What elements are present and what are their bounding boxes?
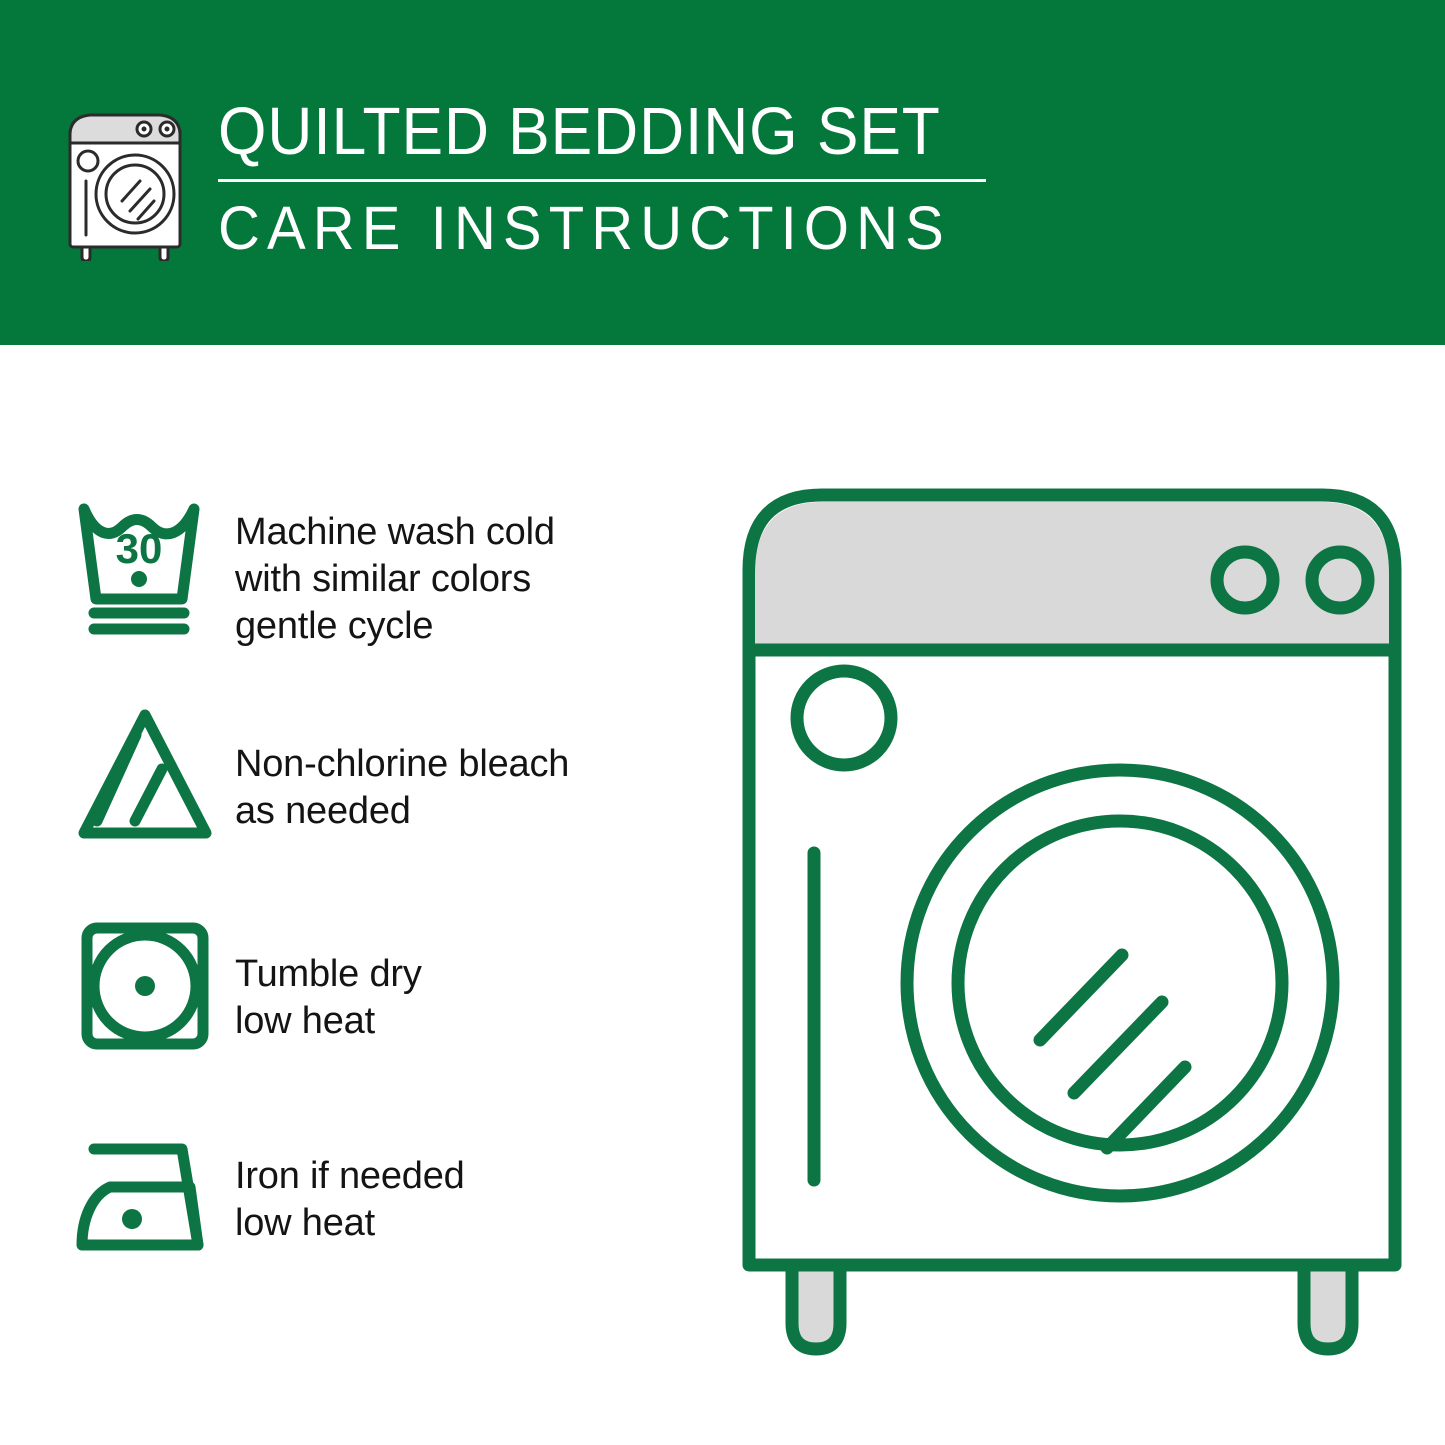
care-text-line: as needed xyxy=(235,788,710,835)
front-load-washing-machine-illustration xyxy=(722,470,1422,1370)
machine-wash-30-gentle-icon: 30 xyxy=(70,487,235,637)
care-instruction-text: Machine wash cold with similar colors ge… xyxy=(235,487,710,650)
care-instruction-item: Non-chlorine bleach as needed xyxy=(70,699,710,911)
care-instruction-item: Tumble dry low heat xyxy=(70,911,710,1123)
header-divider xyxy=(218,179,986,182)
header-content: QUILTED BEDDING SET CARE INSTRUCTIONS xyxy=(60,95,995,261)
care-instruction-text: Iron if needed low heat xyxy=(235,1123,710,1247)
care-instruction-item: Iron if needed low heat xyxy=(70,1123,710,1335)
care-instruction-text: Tumble dry low heat xyxy=(235,911,710,1045)
care-instructions-list: 30 Machine wash cold with similar colors… xyxy=(70,487,710,1335)
page-title: QUILTED BEDDING SET xyxy=(218,95,941,169)
iron-low-heat-icon xyxy=(70,1123,235,1273)
care-text-line: with similar colors xyxy=(235,556,710,603)
header-banner: QUILTED BEDDING SET CARE INSTRUCTIONS xyxy=(0,0,1445,345)
header-text-block: QUILTED BEDDING SET CARE INSTRUCTIONS xyxy=(218,95,995,261)
tumble-dry-low-icon xyxy=(70,911,235,1061)
non-chlorine-bleach-icon xyxy=(70,699,235,849)
care-text-line: Non-chlorine bleach xyxy=(235,741,710,788)
care-text-line: Tumble dry xyxy=(235,951,710,998)
care-instruction-item: 30 Machine wash cold with similar colors… xyxy=(70,487,710,699)
care-text-line: gentle cycle xyxy=(235,603,710,650)
care-text-line: Iron if needed xyxy=(235,1153,710,1200)
care-text-line: low heat xyxy=(235,998,710,1045)
page-subtitle: CARE INSTRUCTIONS xyxy=(218,195,956,261)
care-text-line: low heat xyxy=(235,1200,710,1247)
care-instruction-text: Non-chlorine bleach as needed xyxy=(235,699,710,835)
washing-machine-icon xyxy=(60,101,190,261)
care-text-line: Machine wash cold xyxy=(235,509,710,556)
wash-temperature-label: 30 xyxy=(116,525,163,572)
